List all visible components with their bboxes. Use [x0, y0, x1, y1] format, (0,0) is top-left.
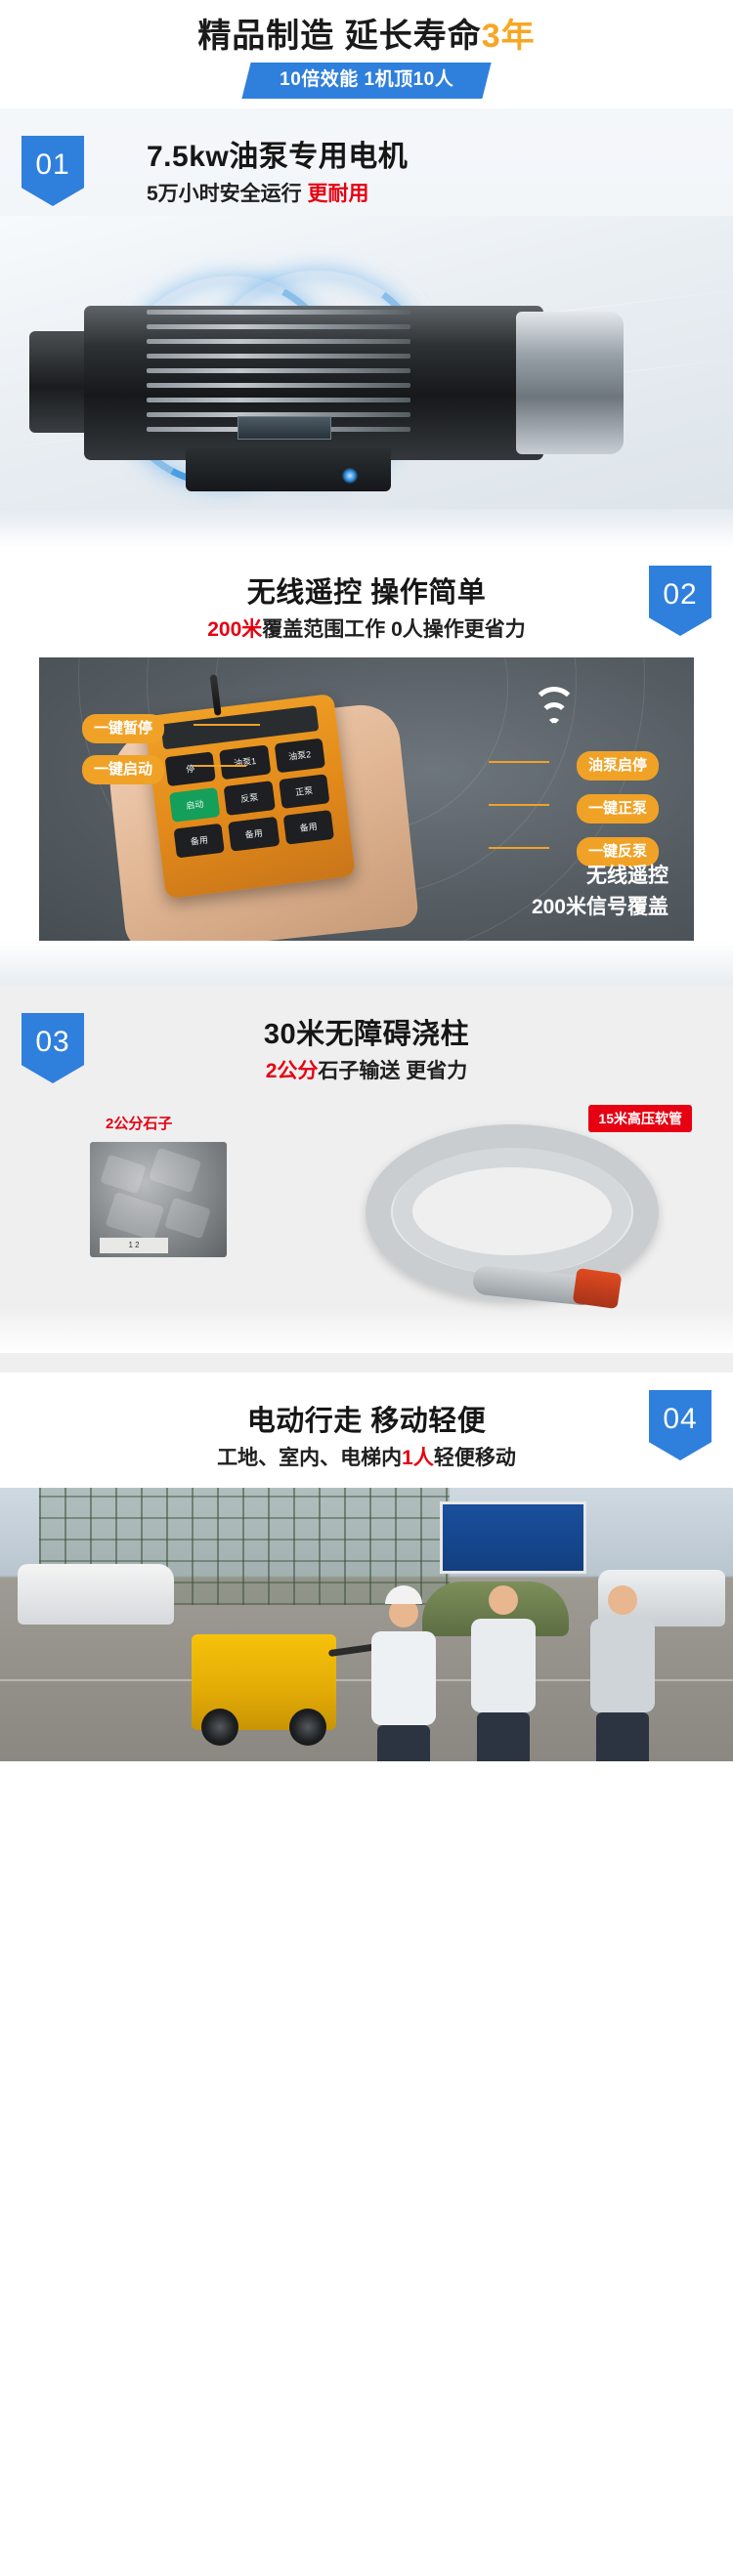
section-04: 04 电动行走 移动轻便 工地、室内、电梯内1人轻便移动 — [0, 1372, 733, 1761]
section-02-subtitle: 200米覆盖范围工作 0人操作更省力 — [0, 614, 733, 646]
motor-led-glow-icon — [342, 468, 358, 484]
callout-pump-toggle: 油泵启停 — [577, 751, 659, 781]
worker-body — [371, 1631, 436, 1725]
section-01-subtitle-red: 更耐用 — [308, 183, 369, 205]
page-title-text: 精品制造 延长寿命 — [197, 18, 481, 55]
stone-photo: 1 2 — [90, 1142, 227, 1257]
section-03-head: 30米无障碍浇柱 2公分石子输送 更省力 — [0, 986, 733, 1103]
wireless-signal-icon — [524, 685, 584, 732]
section-01-title: 7.5kw油泵专用电机 — [147, 138, 733, 177]
section-02-head: 02 无线遥控 操作简单 200米覆盖范围工作 0人操作更省力 — [0, 548, 733, 657]
remote-button[interactable]: 反泵 — [224, 781, 276, 816]
page-title: 精品制造 延长寿命3年 — [0, 14, 733, 59]
section-03-fade — [0, 1308, 733, 1353]
page-title-highlight: 3年 — [482, 18, 536, 55]
section-02-fade — [0, 941, 733, 986]
section-02-subtitle-red: 200米 — [207, 618, 262, 641]
remote-button[interactable]: 备用 — [228, 817, 280, 852]
hose-coupler — [573, 1268, 623, 1309]
motor-end-cap — [516, 312, 624, 454]
section-04-subtitle-red: 1人 — [402, 1447, 434, 1469]
callout-leader-line — [194, 765, 246, 767]
remote-caption-line1: 无线遥控 — [532, 861, 668, 892]
hard-hat-icon — [385, 1585, 422, 1604]
motor-nameplate — [237, 416, 331, 440]
worker-legs — [477, 1712, 530, 1761]
header-banner: 10倍效能 1机顶10人 — [241, 63, 491, 99]
site-signboard — [440, 1501, 586, 1574]
concrete-pump-machine — [192, 1634, 336, 1730]
hose-length-tag: 15米高压软管 — [588, 1105, 692, 1132]
section-02-title: 无线遥控 操作简单 — [0, 573, 733, 612]
remote-caption-line2: 200米信号覆盖 — [532, 892, 668, 923]
callout-leader-line — [489, 847, 549, 849]
section-03-subtitle: 2公分石子输送 更省力 — [0, 1056, 733, 1087]
callout-leader-line — [489, 804, 549, 806]
callout-pause: 一键暂停 — [82, 714, 164, 743]
machine-wheel — [289, 1709, 326, 1746]
section-01: 01 7.5kw油泵专用电机 5万小时安全运行 更耐用 — [0, 108, 733, 548]
section-03-subtitle-red: 2公分 — [266, 1060, 319, 1082]
hose-image: 15米高压软管 2公分石子 1 2 — [20, 1103, 713, 1308]
remote-button[interactable]: 正泵 — [279, 774, 330, 809]
worker-figure — [367, 1585, 440, 1761]
motor-image — [0, 216, 733, 509]
remote-button-start[interactable]: 启动 — [169, 787, 221, 823]
section-04-head: 04 电动行走 移动轻便 工地、室内、电梯内1人轻便移动 — [0, 1372, 733, 1488]
stone-size-label: 2公分石子 — [106, 1115, 172, 1134]
section-02: 02 无线遥控 操作简单 200米覆盖范围工作 0人操作更省力 停 油泵1 油泵 — [0, 548, 733, 986]
header-banner-wrap: 10倍效能 1机顶10人 — [0, 63, 733, 99]
remote-button[interactable]: 油泵1 — [219, 744, 271, 780]
section-04-subtitle-plain-b: 轻便移动 — [434, 1447, 516, 1469]
machine-wheel — [201, 1709, 238, 1746]
remote-control-image: 停 油泵1 油泵2 启动 反泵 正泵 备用 备用 备用 一键暂停 一键启动 油泵… — [39, 657, 694, 941]
section-03: 03 30米无障碍浇柱 2公分石子输送 更省力 15米高压软管 2公分石子 1 … — [0, 986, 733, 1372]
section-03-subtitle-plain: 石子输送 更省力 — [318, 1060, 467, 1082]
section-03-title: 30米无障碍浇柱 — [0, 1015, 733, 1054]
worker-body — [590, 1619, 655, 1712]
remote-button[interactable]: 油泵2 — [274, 739, 325, 774]
page-header: 精品制造 延长寿命3年 10倍效能 1机顶10人 — [0, 0, 733, 108]
section-01-subtitle-plain: 5万小时安全运行 — [147, 183, 308, 205]
section-04-title: 电动行走 移动轻便 — [0, 1402, 733, 1441]
section-01-subtitle: 5万小时安全运行 更耐用 — [147, 179, 733, 210]
stone-ruler: 1 2 — [100, 1238, 168, 1253]
remote-button[interactable]: 备用 — [282, 810, 334, 845]
product-detail-page: 精品制造 延长寿命3年 10倍效能 1机顶10人 01 7.5kw油泵专用电机 … — [0, 0, 733, 1761]
callout-leader-line — [489, 761, 549, 763]
white-van — [18, 1564, 174, 1625]
callout-start: 一键启动 — [82, 755, 164, 784]
remote-button-grid[interactable]: 停 油泵1 油泵2 启动 反泵 正泵 备用 备用 备用 — [165, 739, 334, 859]
remote-caption: 无线遥控 200米信号覆盖 — [532, 861, 668, 923]
worker-legs — [596, 1712, 649, 1761]
worker-body — [471, 1619, 536, 1712]
construction-site-photo — [0, 1488, 733, 1761]
worker-head — [608, 1585, 637, 1615]
callout-forward-pump: 一键正泵 — [577, 794, 659, 823]
worker-figure — [586, 1585, 659, 1761]
callout-leader-line — [194, 724, 260, 726]
section-04-subtitle: 工地、室内、电梯内1人轻便移动 — [0, 1443, 733, 1474]
section-02-subtitle-plain: 覆盖范围工作 0人操作更省力 — [262, 618, 526, 641]
remote-button[interactable]: 备用 — [174, 823, 226, 859]
worker-legs — [377, 1725, 430, 1761]
section-01-fade — [0, 509, 733, 548]
header-banner-label: 10倍效能 1机顶10人 — [280, 68, 453, 92]
worker-figure — [467, 1585, 539, 1761]
section-01-head: 7.5kw油泵专用电机 5万小时安全运行 更耐用 — [0, 108, 733, 216]
motor-base — [186, 448, 391, 491]
worker-head — [489, 1585, 518, 1615]
section-04-subtitle-plain-a: 工地、室内、电梯内 — [217, 1447, 402, 1469]
hose-coil-inner — [393, 1148, 631, 1275]
remote-button[interactable]: 停 — [165, 751, 217, 786]
